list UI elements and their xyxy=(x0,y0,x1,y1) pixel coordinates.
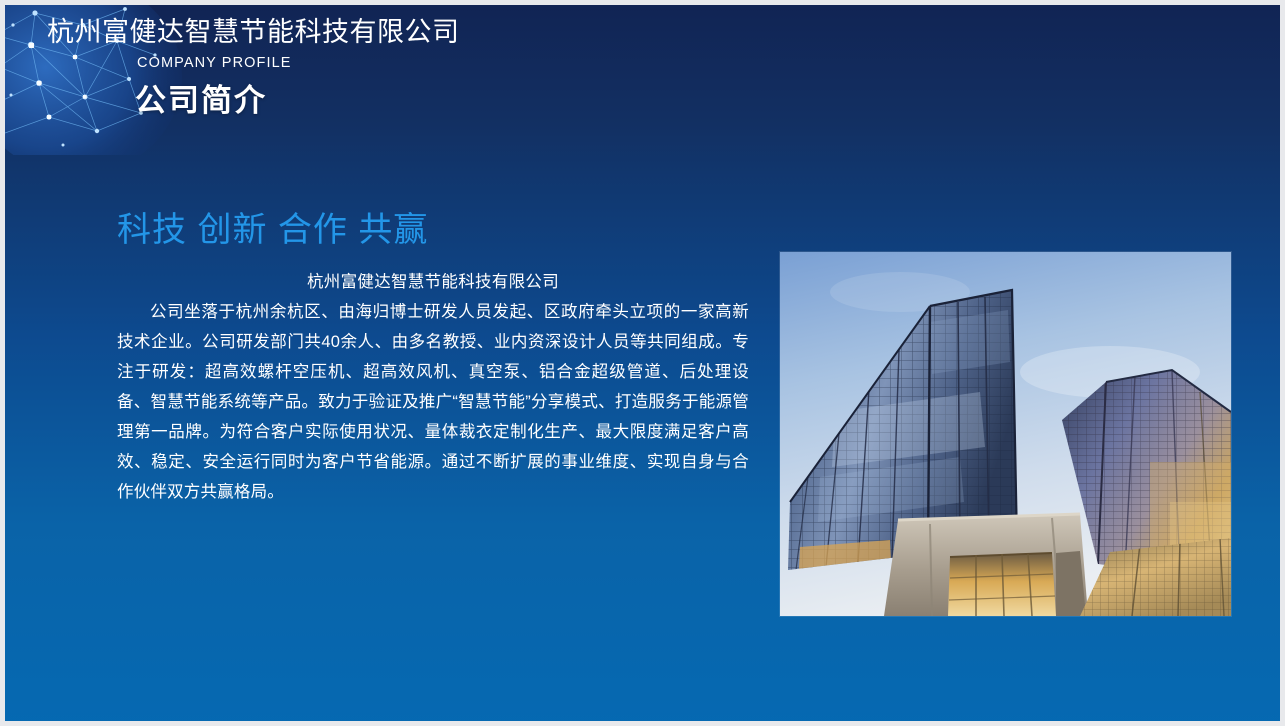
description-paragraph: 公司坐落于杭州余杭区、由海归博士研发人员发起、区政府牵头立项的一家高新技术企业。… xyxy=(117,297,749,507)
header-company-name: 杭州富健达智慧节能科技有限公司 xyxy=(47,15,460,49)
description-company-name: 杭州富健达智慧节能科技有限公司 xyxy=(117,267,749,297)
section-title-chinese: 公司简介 xyxy=(135,75,460,120)
company-profile-slide: 杭州富健达智慧节能科技有限公司 COMPANY PROFILE 公司简介 科技 … xyxy=(0,0,1285,726)
company-description-block: 杭州富健达智慧节能科技有限公司 公司坐落于杭州余杭区、由海归博士研发人员发起、区… xyxy=(117,267,749,507)
slide-header: 杭州富健达智慧节能科技有限公司 COMPANY PROFILE 公司简介 xyxy=(5,5,1280,145)
skyscrapers-photo xyxy=(780,252,1231,616)
slogan-text: 科技 创新 合作 共赢 xyxy=(117,202,428,251)
section-title-english: COMPANY PROFILE xyxy=(137,55,460,71)
